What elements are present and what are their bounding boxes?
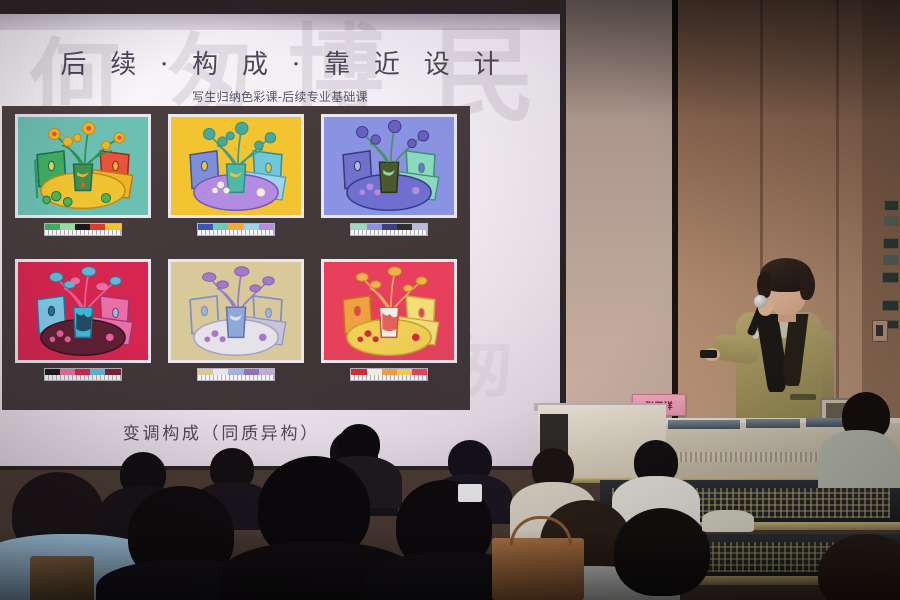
speaker-jacket-pocket — [790, 394, 816, 400]
artwork-1 — [15, 114, 151, 218]
slide-subtitle: 写生归纳色彩课-后续专业基础课 — [0, 88, 560, 105]
artwork-cell-5 — [161, 259, 310, 402]
wall-sign-icon-2 — [884, 216, 899, 226]
paper-sheet — [458, 484, 482, 502]
artwork-cell-6 — [315, 259, 464, 402]
audience-head-f6 — [614, 508, 710, 596]
color-swatch-6 — [350, 368, 428, 381]
handbag — [492, 538, 584, 600]
desk-trim-2 — [746, 419, 800, 428]
color-swatch-4 — [44, 368, 122, 381]
handbag-secondary — [30, 556, 94, 600]
wall-sign-icon-4 — [883, 255, 899, 265]
microphone-icon — [754, 295, 767, 308]
speaker-hair-side-right — [800, 270, 815, 300]
artwork-grid — [2, 106, 470, 410]
color-swatch-1 — [44, 223, 122, 236]
projection-screen: 何 匆 博 民 何 匆 后 续 · 构 成 · 靠 近 设 计 写生归纳色彩课-… — [0, 14, 560, 466]
artwork-2 — [168, 114, 304, 218]
artwork-6 — [321, 259, 457, 363]
artwork-cell-1 — [8, 114, 157, 257]
lecture-hall-scene: 何 匆 博 民 何 匆 后 续 · 构 成 · 靠 近 设 计 写生归纳色彩课-… — [0, 0, 900, 600]
slide-title: 后 续 · 构 成 · 靠 近 设 计 — [0, 44, 560, 81]
artwork-cell-3 — [315, 114, 464, 257]
artwork-4 — [15, 259, 151, 363]
color-swatch-3 — [350, 223, 428, 236]
wall-sign-icon-5 — [882, 272, 899, 283]
desk-trim-1 — [668, 420, 740, 429]
audience-body-m3 — [818, 430, 900, 488]
artwork-5 — [168, 259, 304, 363]
artwork-board — [2, 106, 470, 410]
wall-sign-icon-1 — [884, 200, 899, 211]
light-switch-icon[interactable] — [872, 320, 888, 342]
artwork-cell-4 — [8, 259, 157, 402]
wall-sign-icon-6 — [882, 300, 899, 311]
artwork-cell-2 — [161, 114, 310, 257]
bag-on-bench — [702, 510, 754, 532]
wall-sign-icon-3 — [883, 238, 899, 249]
presentation-remote-icon[interactable] — [700, 350, 717, 358]
wall-top-shadow — [560, 0, 900, 120]
screen-top-band — [0, 14, 560, 30]
color-swatch-5 — [197, 368, 275, 381]
artwork-3 — [321, 114, 457, 218]
color-swatch-2 — [197, 223, 275, 236]
